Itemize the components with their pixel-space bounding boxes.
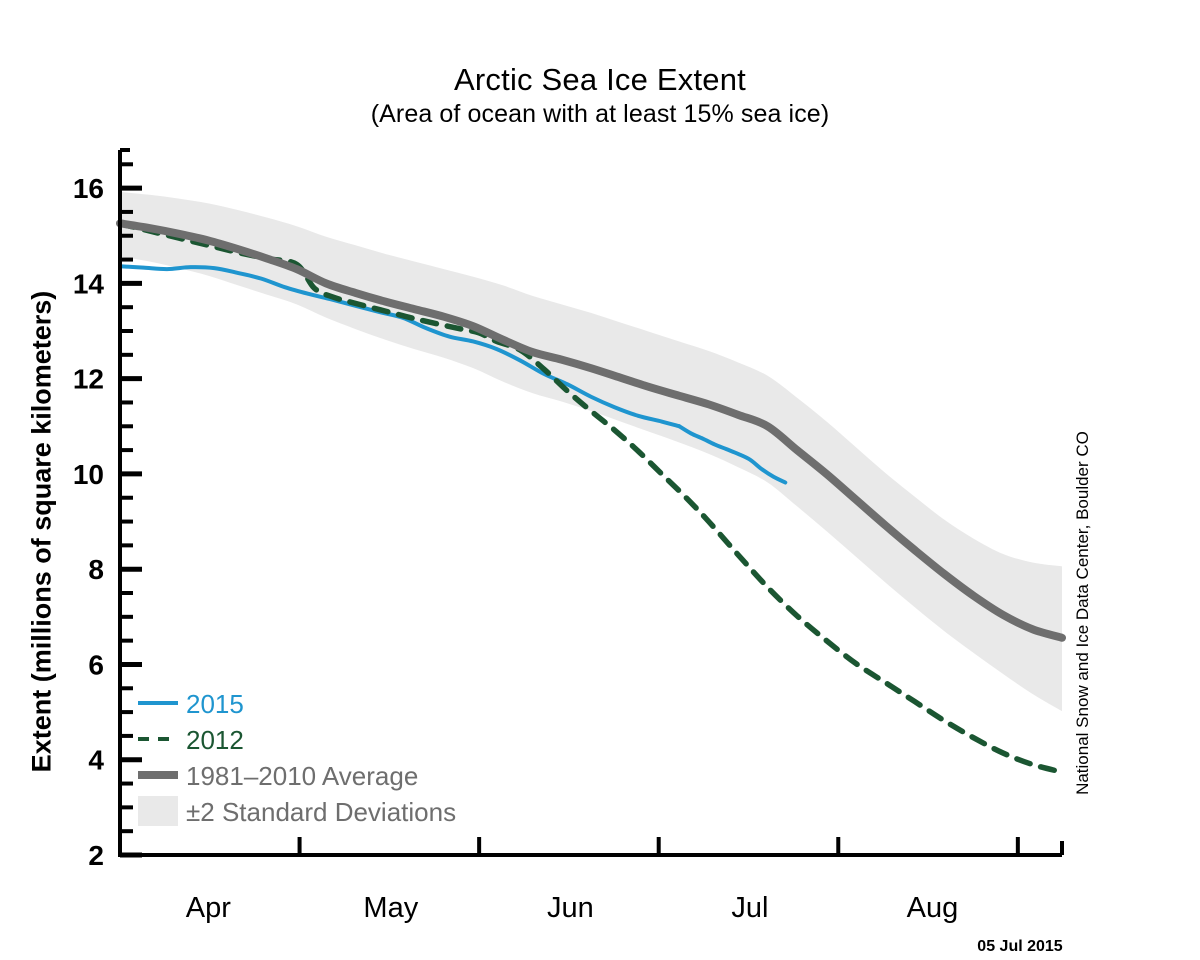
chart-canvas: Arctic Sea Ice Extent (Area of ocean wit…	[0, 0, 1200, 960]
y-tick-label: 10	[73, 459, 104, 490]
y-tick-label: 16	[73, 173, 104, 204]
y-tick-label: 12	[73, 364, 104, 395]
y-tick-label: 6	[88, 649, 104, 680]
y-tick-label: 4	[88, 745, 104, 776]
legend-label: 1981–2010 Average	[186, 761, 418, 791]
legend-label: 2012	[186, 725, 244, 755]
x-tick-label: Apr	[186, 892, 231, 924]
legend-swatch	[138, 796, 178, 826]
x-tick-label: Jul	[731, 892, 768, 924]
y-tick-label: 14	[73, 268, 105, 299]
y-tick-label: 8	[88, 554, 104, 585]
x-tick-label: Jun	[547, 892, 594, 924]
x-tick-label: May	[363, 892, 418, 924]
x-tick-labels: AprMayJunJulAug	[186, 892, 959, 924]
legend: 201520121981–2010 Average±2 Standard Dev…	[138, 689, 456, 827]
std-dev-band	[120, 192, 1062, 711]
series-lines	[120, 223, 1062, 772]
plot-area: 246810121416 AprMayJunJulAug 20152012198…	[0, 0, 1200, 960]
legend-label: ±2 Standard Deviations	[186, 797, 456, 827]
y-tick-labels: 246810121416	[73, 173, 105, 871]
x-tick-label: Aug	[907, 892, 959, 924]
y-tick-label: 2	[88, 840, 104, 871]
legend-label: 2015	[186, 689, 244, 719]
